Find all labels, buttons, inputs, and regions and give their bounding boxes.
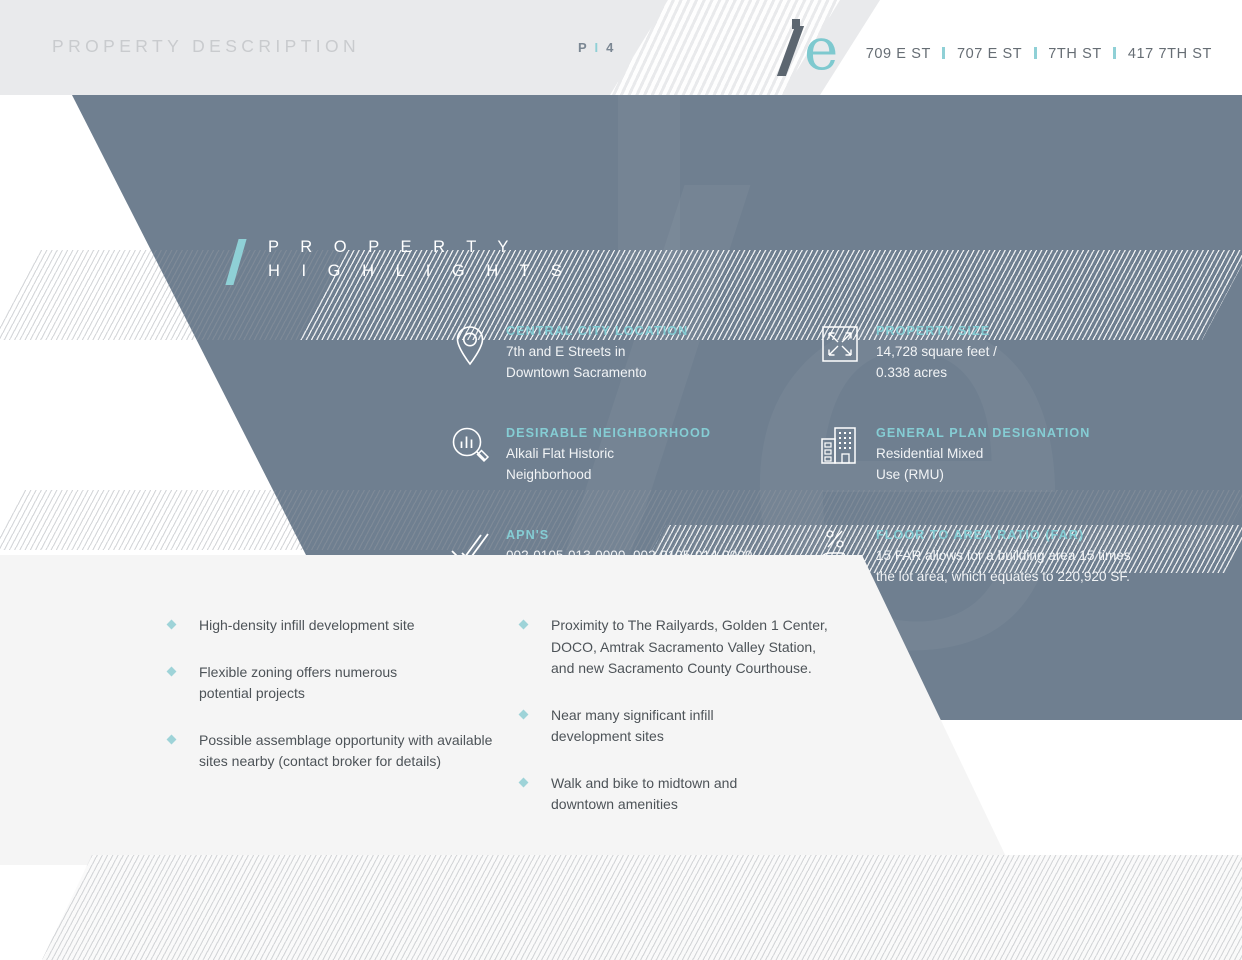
bullet-list-right: Proximity to The Railyards, Golden 1 Cen… xyxy=(520,615,920,841)
highlight-heading: DESIRABLE NEIGHBORHOOD xyxy=(506,426,711,440)
highlight-line-0: 14,728 square feet / xyxy=(876,342,997,363)
address-separator-icon xyxy=(942,47,945,59)
highlight-desirable-neighborhood: DESIRABLE NEIGHBORHOOD Alkali Flat Histo… xyxy=(448,425,711,485)
list-item: Proximity to The Railyards, Golden 1 Cen… xyxy=(520,615,920,680)
bullet-diamond-icon xyxy=(519,620,529,630)
bottom-hatch-decoration xyxy=(0,855,1242,960)
bullet-line-0: Proximity to The Railyards, Golden 1 Cen… xyxy=(551,615,828,637)
bullet-diamond-icon xyxy=(167,620,177,630)
section-title-line2: H I G H L I G H T S xyxy=(268,259,652,284)
highlight-heading: APN'S xyxy=(506,528,756,542)
highlight-heading: PROPERTY SIZE xyxy=(876,324,997,338)
highlight-central-city-location: CENTRAL CITY LOCATION 7th and E Streets … xyxy=(448,323,688,383)
page-title: PROPERTY DESCRIPTION xyxy=(52,36,360,57)
page-prefix: P xyxy=(578,40,589,55)
highlight-property-size: PROPERTY SIZE 14,728 square feet / 0.338… xyxy=(818,323,997,383)
list-item: Flexible zoning offers numerous potentia… xyxy=(168,662,528,705)
bullet-text: Possible assemblage opportunity with ava… xyxy=(199,730,492,773)
address-item-3: 417 7TH ST xyxy=(1128,46,1212,62)
bullet-text: Proximity to The Railyards, Golden 1 Cen… xyxy=(551,615,828,680)
bullet-diamond-icon xyxy=(519,777,529,787)
highlight-line-1: Downtown Sacramento xyxy=(506,363,688,384)
section-title: P R O P E R T Y H I G H L I G H T S xyxy=(232,235,652,284)
address-separator-icon xyxy=(1034,47,1037,59)
list-item: Possible assemblage opportunity with ava… xyxy=(168,730,528,773)
page-number: 4 xyxy=(606,40,615,55)
address-item-0: 709 E ST xyxy=(866,46,931,62)
magnifier-chart-icon xyxy=(448,425,494,469)
logo-letter-e: e xyxy=(804,22,838,76)
highlight-heading: CENTRAL CITY LOCATION xyxy=(506,324,688,338)
bullet-line-1: DOCO, Amtrak Sacramento Valley Station, xyxy=(551,637,828,659)
highlight-text: GENERAL PLAN DESIGNATION Residential Mix… xyxy=(876,425,1090,485)
list-item: Walk and bike to midtown and downtown am… xyxy=(520,773,920,816)
bullet-line-2: and new Sacramento County Courthouse. xyxy=(551,658,828,680)
expand-arrows-icon xyxy=(818,323,864,367)
bullet-text: High-density infill development site xyxy=(199,615,415,637)
page-indicator: P I 4 xyxy=(578,40,616,55)
bullet-text: Flexible zoning offers numerous potentia… xyxy=(199,662,397,705)
bullet-text: Walk and bike to midtown and downtown am… xyxy=(551,773,737,816)
bullet-text: Near many significant infill development… xyxy=(551,705,714,748)
address-item-2: 7TH ST xyxy=(1048,46,1101,62)
bullet-line-1: downtown amenities xyxy=(551,794,737,816)
highlight-line-1: Neighborhood xyxy=(506,465,711,486)
bullet-line-0: Possible assemblage opportunity with ava… xyxy=(199,730,492,752)
page-separator: I xyxy=(594,40,600,55)
highlight-line-1: Use (RMU) xyxy=(876,465,1090,486)
brand-logo-icon: e xyxy=(782,14,868,80)
map-pin-icon xyxy=(448,323,494,367)
highlight-text: DESIRABLE NEIGHBORHOOD Alkali Flat Histo… xyxy=(506,425,711,485)
bullet-line-0: Near many significant infill xyxy=(551,705,714,727)
bullet-diamond-icon xyxy=(167,734,177,744)
list-item: Near many significant infill development… xyxy=(520,705,920,748)
bullet-line-1: potential projects xyxy=(199,683,397,705)
address-list: 709 E ST 707 E ST 7TH ST 417 7TH ST xyxy=(866,46,1212,62)
bullet-line-1: development sites xyxy=(551,726,714,748)
list-item: High-density infill development site xyxy=(168,615,528,637)
bullet-line-1: sites nearby (contact broker for details… xyxy=(199,751,492,773)
highlight-line-0: Residential Mixed xyxy=(876,444,1090,465)
address-separator-icon xyxy=(1113,47,1116,59)
highlight-line-1: 0.338 acres xyxy=(876,363,997,384)
highlight-text: CENTRAL CITY LOCATION 7th and E Streets … xyxy=(506,323,688,383)
highlight-line-0: Alkali Flat Historic xyxy=(506,444,711,465)
highlight-heading: FLOOR TO AREA RATIO (FAR) xyxy=(876,528,1131,542)
highlight-heading: GENERAL PLAN DESIGNATION xyxy=(876,426,1090,440)
page-header: PROPERTY DESCRIPTION P I 4 e 709 E ST 70… xyxy=(0,0,1242,95)
highlight-text: PROPERTY SIZE 14,728 square feet / 0.338… xyxy=(876,323,997,383)
highlight-general-plan-designation: GENERAL PLAN DESIGNATION Residential Mix… xyxy=(818,425,1090,485)
building-icon xyxy=(818,425,864,469)
bullet-line-0: Flexible zoning offers numerous xyxy=(199,662,397,684)
highlight-line-0: 7th and E Streets in xyxy=(506,342,688,363)
bullet-line-0: Walk and bike to midtown and xyxy=(551,773,737,795)
address-item-1: 707 E ST xyxy=(957,46,1022,62)
bullet-diamond-icon xyxy=(167,666,177,676)
bullets-section: High-density infill development site Fle… xyxy=(0,555,1242,960)
property-description-page: PROPERTY DESCRIPTION P I 4 e 709 E ST 70… xyxy=(0,0,1242,960)
section-title-line1: P R O P E R T Y xyxy=(268,235,652,259)
bullet-line-0: High-density infill development site xyxy=(199,615,415,637)
bullet-list-left: High-density infill development site Fle… xyxy=(168,615,528,798)
bullet-diamond-icon xyxy=(519,709,529,719)
